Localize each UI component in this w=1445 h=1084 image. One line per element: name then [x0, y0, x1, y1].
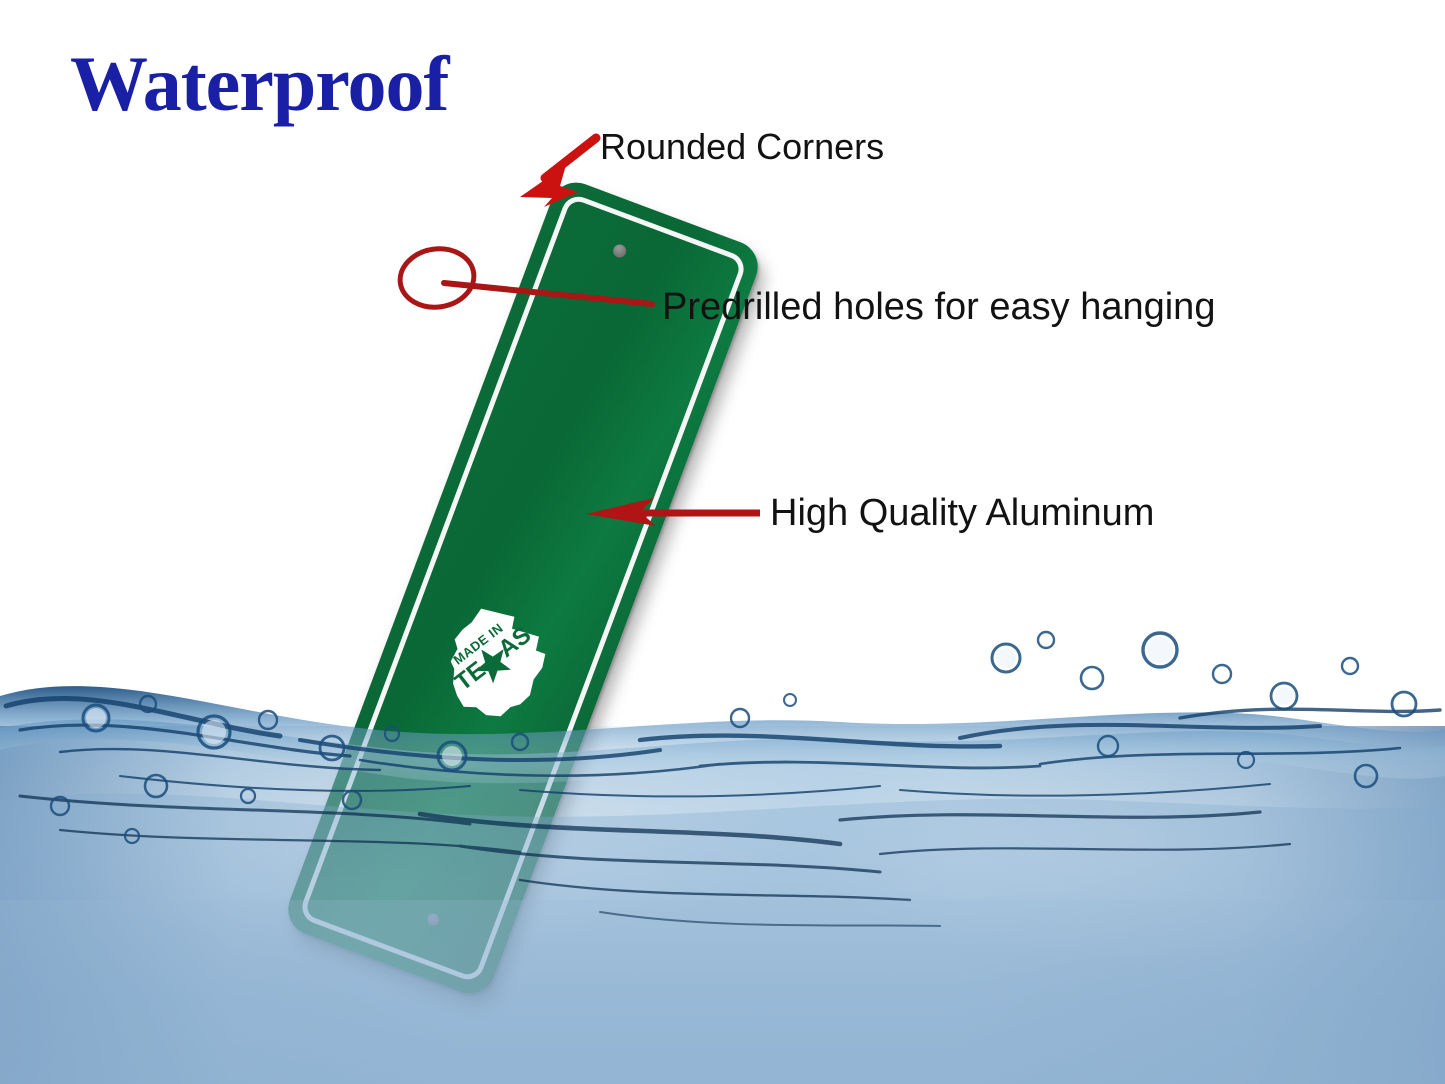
- waterproof-product-graphic: MADE IN TE AS: [0, 0, 1445, 1084]
- page-title: Waterproof: [70, 45, 448, 123]
- callout-label-rounded-corners: Rounded Corners: [600, 126, 884, 168]
- callout-label-predrilled-holes: Predrilled holes for easy hanging: [662, 286, 1215, 329]
- callout-label-high-quality-aluminum: High Quality Aluminum: [770, 492, 1154, 535]
